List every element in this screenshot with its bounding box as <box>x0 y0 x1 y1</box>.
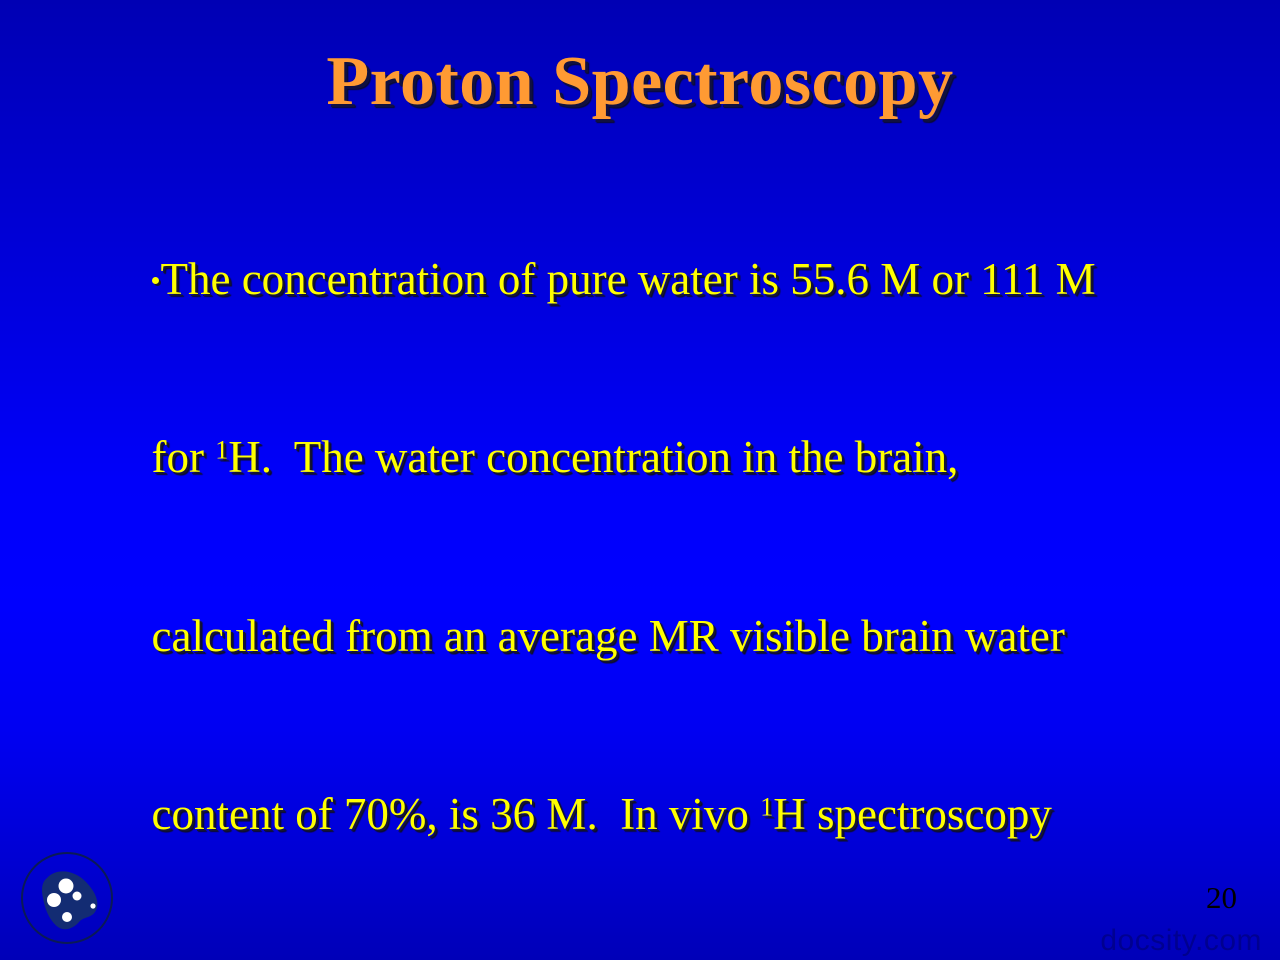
body-line: content of 70%, is 36 M. In vivo 1H spec… <box>84 726 1194 905</box>
logo-dot <box>73 892 82 901</box>
logo-dot <box>90 903 95 908</box>
body-line: for 1H. The water concentration in the b… <box>84 369 1194 548</box>
body-line-text-cont: H. The water concentration in the brain, <box>228 432 958 482</box>
body-line: The concentration of pure water is 55.6 … <box>84 190 1194 369</box>
body-line-text: for <box>152 432 216 482</box>
brain-scan-logo-svg <box>17 848 117 948</box>
slide-canvas: Proton Spectroscopy The concentration of… <box>0 0 1280 960</box>
body-line-text-cont: H spectroscopy <box>773 789 1052 839</box>
bullet-point-icon <box>152 277 159 284</box>
superscript-isotope: 1 <box>215 435 228 464</box>
body-line: requires water suppression because the 3… <box>84 904 1194 960</box>
logo-dot <box>59 879 74 894</box>
body-line: calculated from an average MR visible br… <box>84 547 1194 726</box>
body-line-text: content of 70%, is 36 M. In vivo <box>152 789 761 839</box>
watermark: docsity.com <box>1100 924 1262 958</box>
page-title: Proton Spectroscopy <box>0 44 1280 120</box>
body-line-text: calculated from an average MR visible br… <box>152 611 1065 661</box>
page-number: 20 <box>1206 881 1237 914</box>
superscript-isotope: 1 <box>760 792 773 821</box>
brain-scan-logo <box>17 848 117 948</box>
body-text-block: The concentration of pure water is 55.6 … <box>84 190 1194 960</box>
body-line-text: The concentration of pure water is 55.6 … <box>161 254 1096 304</box>
logo-dot <box>62 912 72 922</box>
logo-dot <box>47 893 61 907</box>
